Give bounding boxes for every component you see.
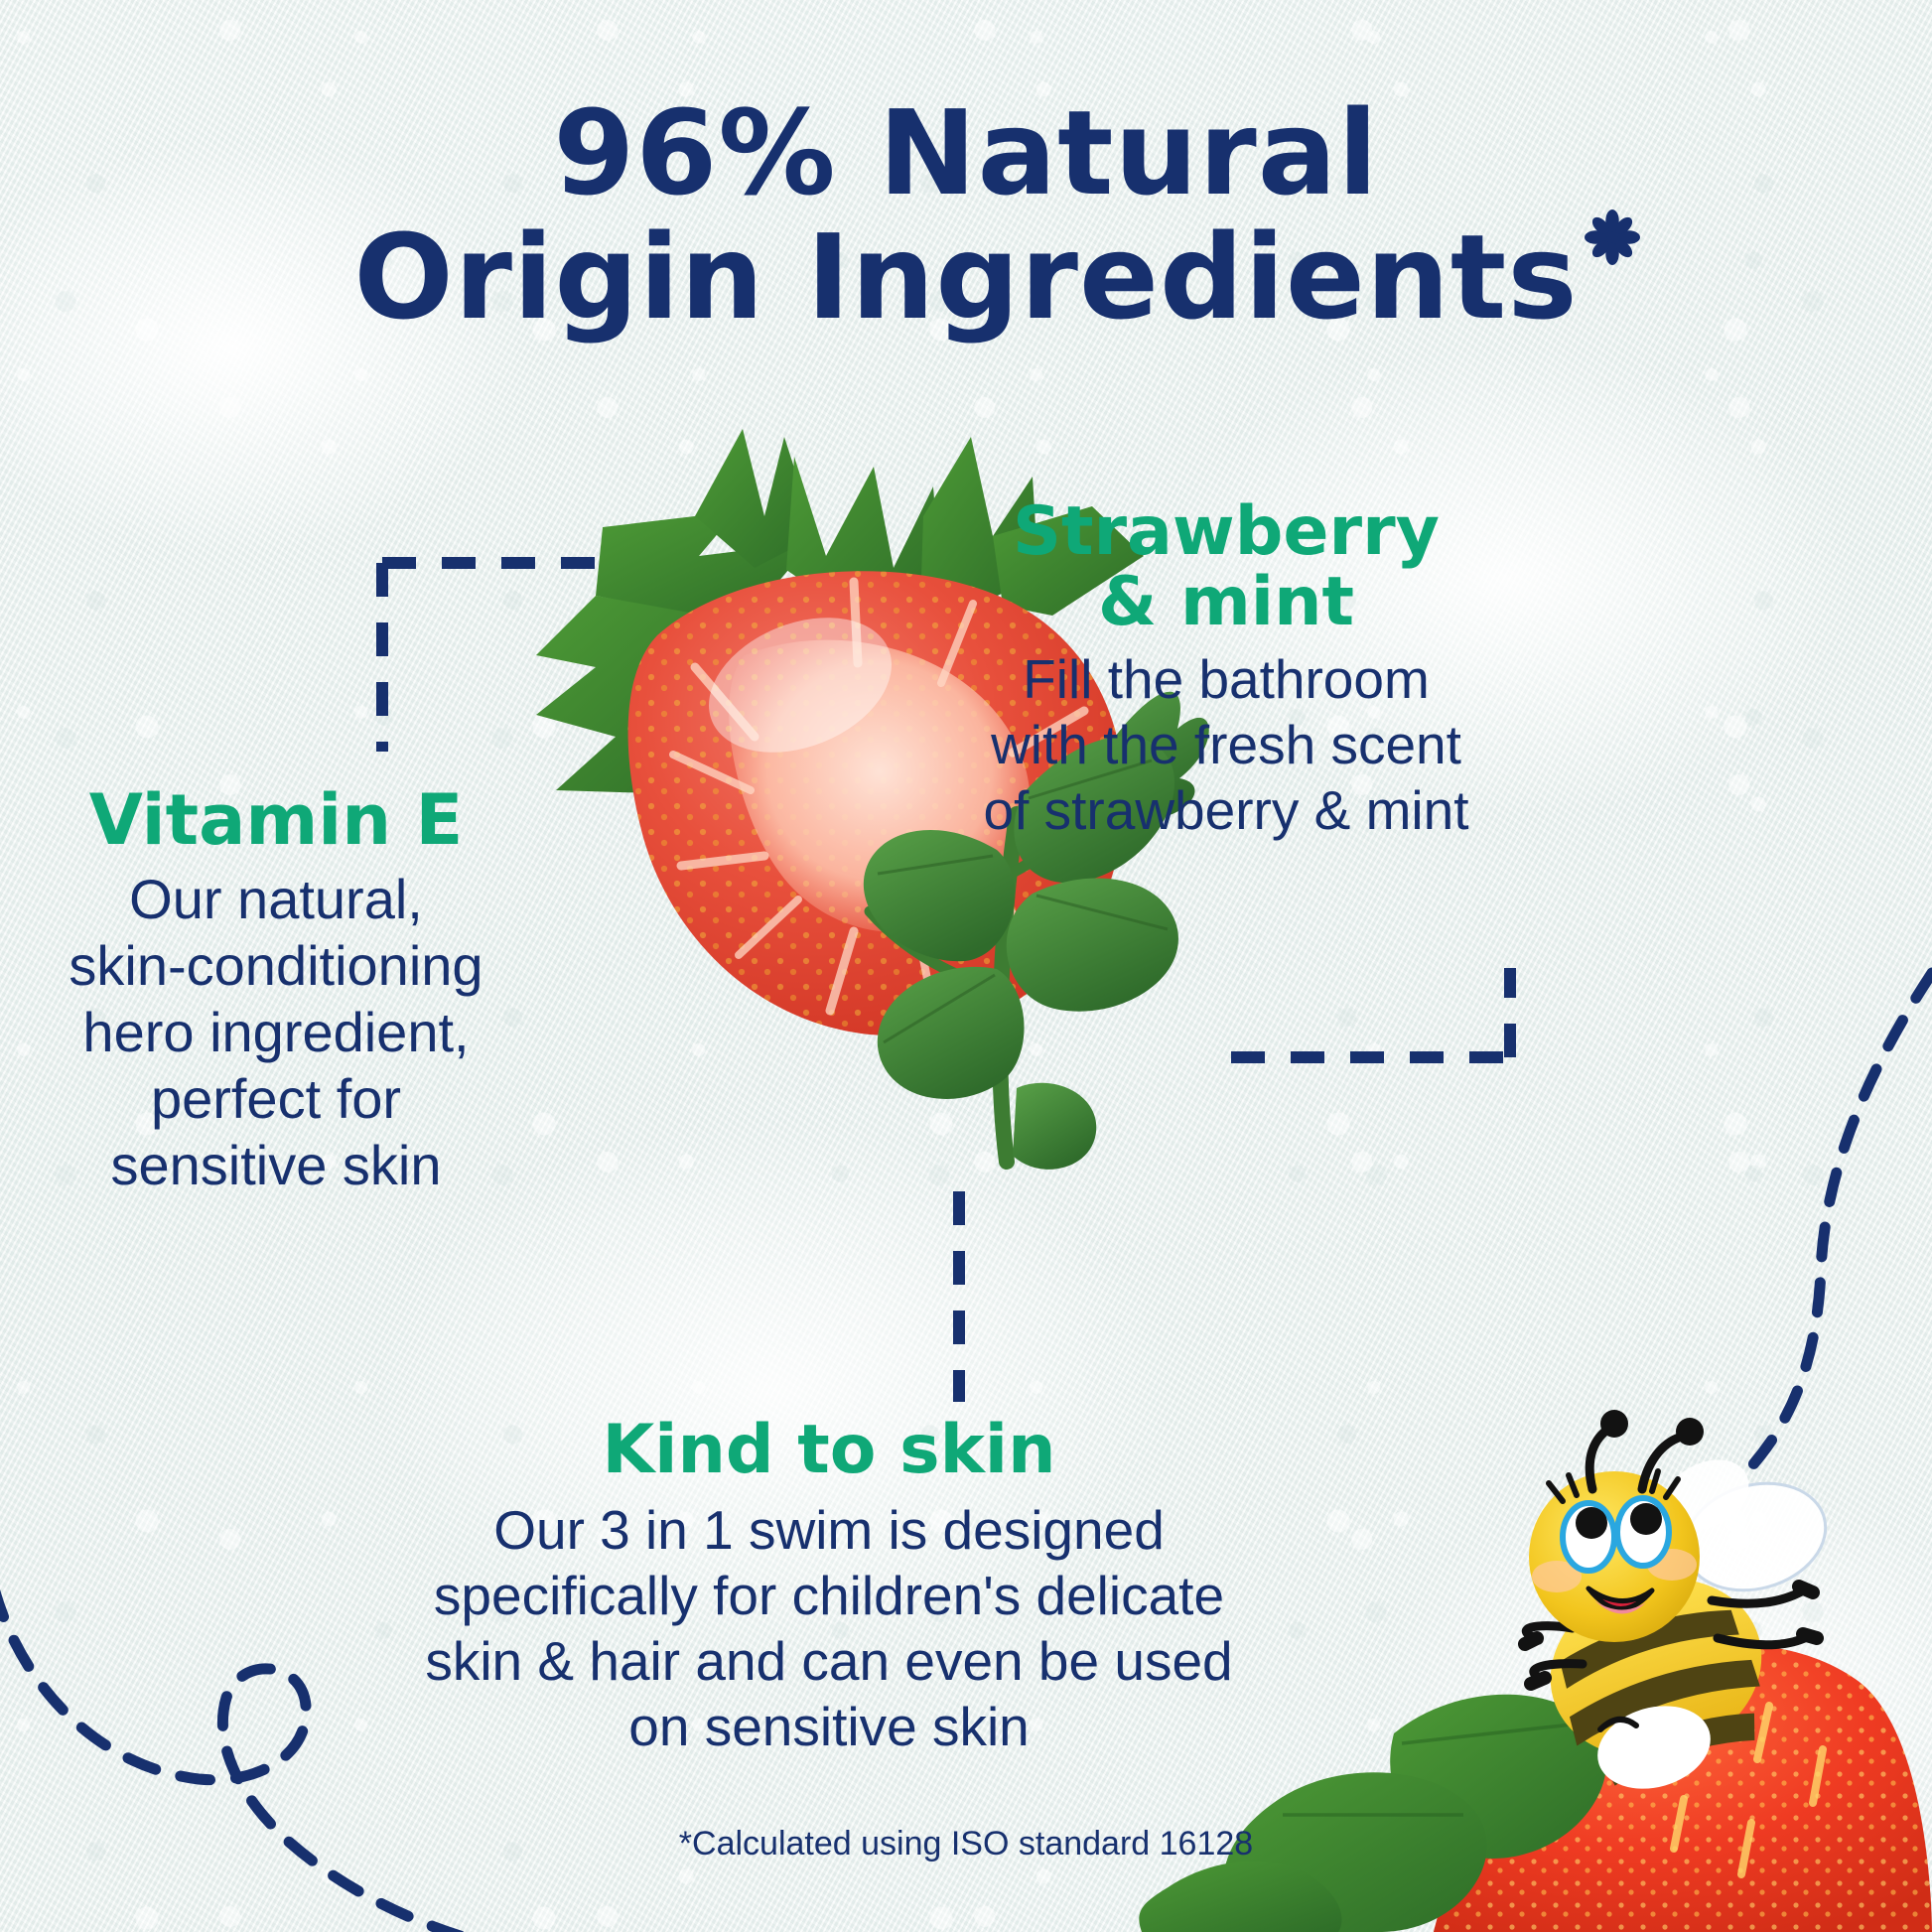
text-line: sensitive skin (28, 1132, 524, 1198)
callout-strawberry-mint-heading: Strawberry & mint (953, 496, 1499, 638)
text-line: & mint (953, 567, 1499, 637)
flower-asterisk-icon (1585, 209, 1640, 265)
footnote: *Calculated using ISO standard 16128 (0, 1825, 1932, 1863)
infographic-canvas: 96% Natural Origin Ingredients Vitamin (0, 0, 1932, 1932)
callout-kind-to-skin: Kind to skin Our 3 in 1 swim is designed… (328, 1415, 1330, 1759)
page-title: 96% Natural Origin Ingredients (0, 91, 1932, 340)
text-line: Our natural, (28, 866, 524, 932)
callout-strawberry-mint-body: Fill the bathroom with the fresh scent o… (953, 646, 1499, 843)
text-line: specifically for children's delicate (328, 1563, 1330, 1628)
title-line-2-wrapper: Origin Ingredients (353, 215, 1578, 340)
text-line: Fill the bathroom (953, 646, 1499, 712)
callout-vitamin-e-heading: Vitamin E (28, 784, 524, 858)
callout-vitamin-e: Vitamin E Our natural, skin-conditioning… (28, 784, 524, 1198)
text-line: skin-conditioning (28, 932, 524, 999)
title-line-2: Origin Ingredients (353, 208, 1578, 345)
text-line: on sensitive skin (328, 1694, 1330, 1759)
text-line: of strawberry & mint (953, 777, 1499, 843)
text-line: Strawberry (953, 496, 1499, 567)
title-line-1: 96% Natural (0, 91, 1932, 215)
callout-kind-to-skin-heading: Kind to skin (328, 1415, 1330, 1485)
callout-kind-to-skin-body: Our 3 in 1 swim is designed specifically… (328, 1497, 1330, 1759)
text-line: skin & hair and can even be used (328, 1628, 1330, 1694)
callout-vitamin-e-body: Our natural, skin-conditioning hero ingr… (28, 866, 524, 1199)
text-line: with the fresh scent (953, 712, 1499, 777)
callout-strawberry-mint: Strawberry & mint Fill the bathroom with… (953, 496, 1499, 843)
text-line: perfect for (28, 1065, 524, 1132)
text-line: Our 3 in 1 swim is designed (328, 1497, 1330, 1563)
text-line: hero ingredient, (28, 999, 524, 1065)
